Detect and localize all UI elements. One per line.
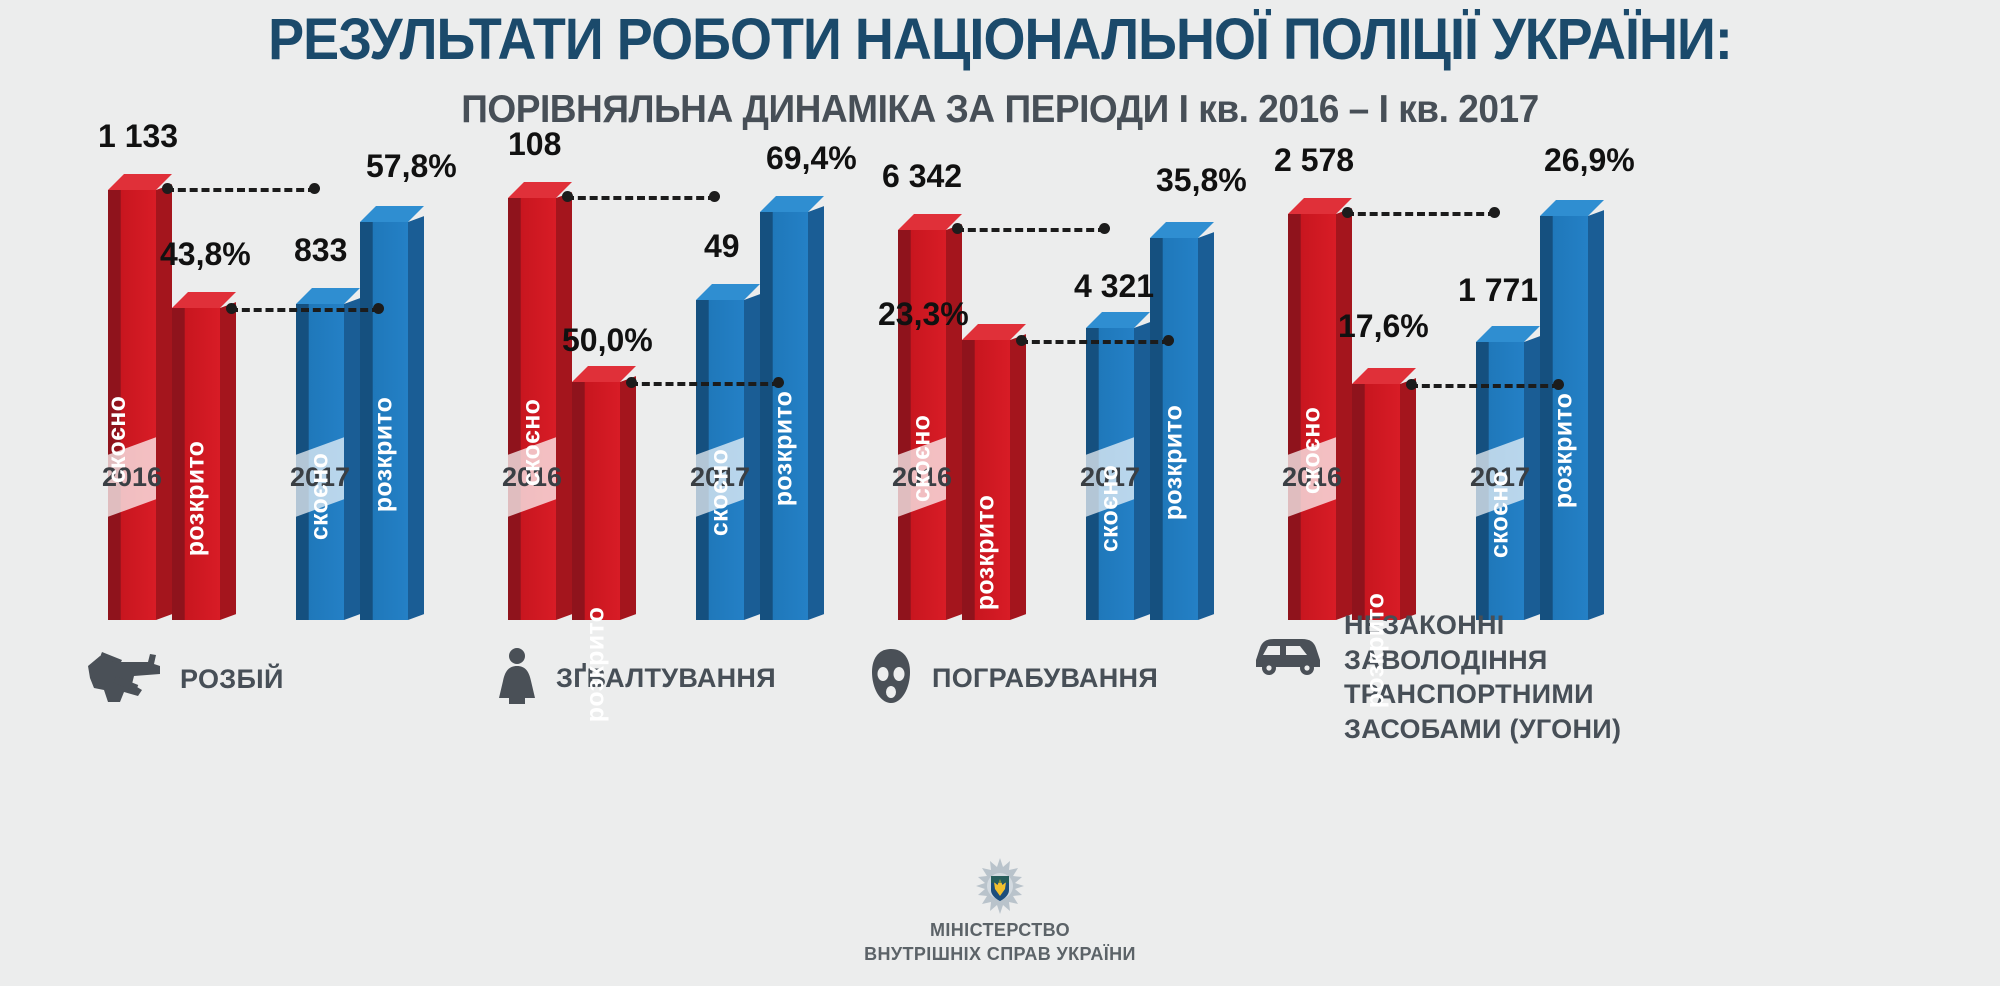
bar-committed-2017: 2017 скоєно bbox=[696, 300, 744, 620]
bar-inbar-label: скоєно bbox=[1486, 400, 1515, 630]
page-title: РЕЗУЛЬТАТИ РОБОТИ НАЦІОНАЛЬНОЇ ПОЛІЦІЇ У… bbox=[70, 6, 1930, 73]
bar-committed-2017: 2017 скоєно bbox=[1086, 328, 1134, 620]
bar-side bbox=[620, 376, 636, 620]
bar-solved-2017: розкрито bbox=[1150, 238, 1198, 620]
plot-area: 2016 скоєно 2 578 розкрито 17,6% bbox=[1240, 150, 1700, 620]
value-solved-2016: 23,3% bbox=[878, 296, 969, 333]
value-solved-2017: 57,8% bbox=[366, 148, 457, 185]
bar-solved-2016: розкрито bbox=[1352, 384, 1400, 620]
connector-dot-start bbox=[226, 303, 237, 314]
connector-line bbox=[566, 196, 716, 200]
ministry-line-1: МІНІСТЕРСТВО bbox=[0, 918, 2000, 942]
group-rozbiy: 2016 скоєно 1 133 розкрито 43,8% bbox=[60, 150, 480, 770]
connector-dot-end bbox=[1163, 335, 1174, 346]
bar-side bbox=[946, 224, 962, 620]
bar-inbar-label: скоєно bbox=[706, 378, 735, 608]
value-committed-2016: 2 578 bbox=[1274, 142, 1354, 179]
bar-inbar-label: скоєно bbox=[1096, 394, 1125, 624]
group-label-zgvaltuvannya: ЗҐВАЛТУВАННЯ bbox=[496, 648, 776, 709]
value-committed-2017: 833 bbox=[294, 232, 347, 269]
connector-line bbox=[1020, 340, 1170, 344]
bar-side bbox=[808, 206, 824, 620]
connector-line bbox=[230, 308, 380, 312]
connector-dot-start bbox=[626, 377, 637, 388]
connector-dot-end bbox=[709, 191, 720, 202]
connector-line bbox=[166, 188, 316, 192]
ministry-name: МІНІСТЕРСТВО ВНУТРІШНІХ СПРАВ УКРАЇНИ bbox=[0, 918, 2000, 967]
value-committed-2016: 108 bbox=[508, 126, 561, 163]
value-solved-2016: 43,8% bbox=[160, 236, 251, 273]
plot-area: 2016 скоєно 108 розкрито 50,0% bbox=[460, 150, 880, 620]
bar-side bbox=[220, 302, 236, 620]
group-label-text: РОЗБІЙ bbox=[180, 662, 284, 697]
connector-dot-end bbox=[1553, 379, 1564, 390]
group-ugony: 2016 скоєно 2 578 розкрито 17,6% bbox=[1240, 150, 1700, 770]
group-label-ugony: НЕЗАКОННІ ЗАВОЛОДІННЯ ТРАНСПОРТНИМИ ЗАСО… bbox=[1250, 608, 1621, 746]
value-solved-2016: 17,6% bbox=[1338, 308, 1429, 345]
group-zgvaltuvannya: 2016 скоєно 108 розкрито 50,0% bbox=[460, 150, 880, 770]
gun-icon bbox=[86, 650, 162, 709]
bar-inbar-label: розкрито bbox=[1160, 348, 1189, 578]
bar-inbar-label: розкрито bbox=[582, 550, 611, 780]
value-committed-2017: 1 771 bbox=[1458, 272, 1538, 309]
ministry-line-2: ВНУТРІШНІХ СПРАВ УКРАЇНИ bbox=[0, 942, 2000, 966]
connector-dot-start bbox=[1406, 379, 1417, 390]
connector-dot-start bbox=[1016, 335, 1027, 346]
connector-dot-end bbox=[309, 183, 320, 194]
bar-committed-2016: 2016 скоєно bbox=[108, 190, 156, 620]
bar-inbar-label: розкрито bbox=[1550, 336, 1579, 566]
connector-line bbox=[630, 382, 780, 386]
group-label-rozbiy: РОЗБІЙ bbox=[86, 650, 284, 709]
bar-solved-2017: розкрито bbox=[360, 222, 408, 620]
bar-committed-2017: 2017 скоєно bbox=[296, 304, 344, 620]
police-emblem-icon bbox=[972, 858, 1028, 914]
connector-line bbox=[956, 228, 1106, 232]
bar-side bbox=[1588, 210, 1604, 620]
bar-inbar-label: скоєно bbox=[306, 382, 335, 612]
car-icon bbox=[1250, 634, 1326, 681]
bar-side bbox=[1010, 334, 1026, 620]
value-solved-2017: 69,4% bbox=[766, 140, 857, 177]
connector-dot-end bbox=[373, 303, 384, 314]
connector-line bbox=[1346, 212, 1496, 216]
bar-solved-2017: розкрито bbox=[760, 212, 808, 620]
connector-dot-end bbox=[773, 377, 784, 388]
bar-solved-2016: розкрито bbox=[572, 382, 620, 620]
bar-side bbox=[744, 294, 760, 620]
plot-area: 2016 скоєно 6 342 розкрито 23,3% bbox=[850, 150, 1270, 620]
woman-icon bbox=[496, 648, 538, 709]
connector-line bbox=[1410, 384, 1560, 388]
bar-side bbox=[344, 298, 360, 620]
value-solved-2016: 50,0% bbox=[562, 322, 653, 359]
value-committed-2016: 1 133 bbox=[98, 118, 178, 155]
bar-side bbox=[1400, 378, 1416, 620]
group-pohrabuvannya: 2016 скоєно 6 342 розкрито 23,3% bbox=[850, 150, 1270, 770]
bar-inbar-label: скоєно bbox=[1298, 336, 1327, 566]
value-solved-2017: 26,9% bbox=[1544, 142, 1635, 179]
bar-side bbox=[408, 216, 424, 620]
page-subtitle: ПОРІВНЯЛЬНА ДИНАМІКА ЗА ПЕРІОДИ I кв. 20… bbox=[50, 88, 1950, 132]
bar-side bbox=[1198, 232, 1214, 620]
group-label-text: ПОГРАБУВАННЯ bbox=[932, 661, 1158, 696]
bar-inbar-label: скоєно bbox=[908, 344, 937, 574]
group-label-pohrabuvannya: ПОГРАБУВАННЯ bbox=[868, 648, 1158, 709]
value-solved-2017: 35,8% bbox=[1156, 162, 1247, 199]
bar-inbar-label: розкрито bbox=[770, 334, 799, 564]
connector-dot-end bbox=[1099, 223, 1110, 234]
bar-inbar-label: розкрито bbox=[1362, 536, 1391, 766]
connector-dot-start bbox=[952, 223, 963, 234]
value-committed-2017: 4 321 bbox=[1074, 268, 1154, 305]
ministry-footer: МІНІСТЕРСТВО ВНУТРІШНІХ СПРАВ УКРАЇНИ bbox=[0, 858, 2000, 967]
chart-groups: 2016 скоєно 1 133 розкрито 43,8% bbox=[0, 150, 2000, 770]
bar-inbar-label: скоєно bbox=[518, 328, 547, 558]
bar-side bbox=[1336, 208, 1352, 620]
bar-committed-2016: 2016 скоєно bbox=[898, 230, 946, 620]
bar-solved-2016: розкрито bbox=[172, 308, 220, 620]
plot-area: 2016 скоєно 1 133 розкрито 43,8% bbox=[60, 150, 480, 620]
connector-dot-start bbox=[162, 183, 173, 194]
bar-committed-2016: 2016 скоєно bbox=[508, 198, 556, 620]
value-committed-2017: 49 bbox=[704, 228, 740, 265]
robber-mask-icon bbox=[868, 648, 914, 709]
bar-side bbox=[556, 192, 572, 620]
connector-dot-start bbox=[562, 191, 573, 202]
bar-inbar-label: розкрито bbox=[182, 384, 211, 614]
connector-dot-start bbox=[1342, 207, 1353, 218]
bar-inbar-label: розкрито bbox=[370, 340, 399, 570]
bar-solved-2016: розкрито bbox=[962, 340, 1010, 620]
connector-dot-end bbox=[1489, 207, 1500, 218]
bar-committed-2016: 2016 скоєно bbox=[1288, 214, 1336, 620]
bar-inbar-label: розкрито bbox=[972, 438, 1001, 668]
bar-inbar-label: скоєно bbox=[103, 325, 132, 555]
value-committed-2016: 6 342 bbox=[882, 158, 962, 195]
bar-solved-2017: розкрито bbox=[1540, 216, 1588, 620]
